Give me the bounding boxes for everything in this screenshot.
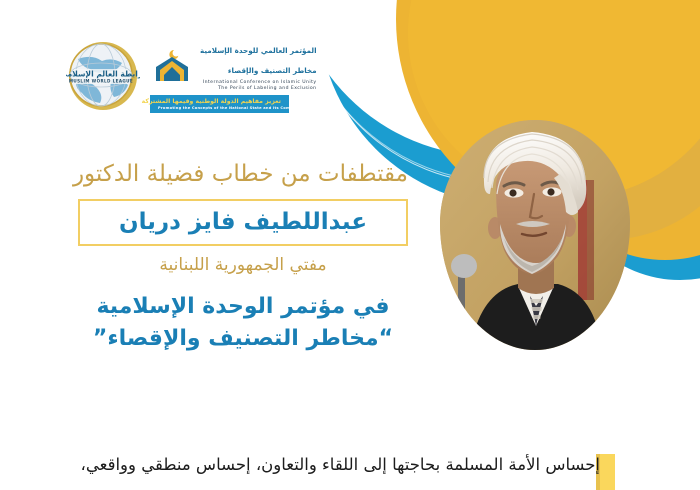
conference-arabic-line-1: المؤتمر العالمي للوحدة الإسلامية (200, 46, 317, 55)
conference-logo-words: المؤتمر العالمي للوحدة الإسلامية مخاطر ا… (200, 38, 317, 91)
portrait-artwork (440, 120, 630, 350)
header-logos: المؤتمر العالمي للوحدة الإسلامية مخاطر ا… (66, 38, 317, 113)
quote-text: إحساس الأمة المسلمة بحاجتها إلى اللقاء و… (60, 452, 600, 479)
svg-text:رابطة العالم الإسلامي: رابطة العالم الإسلامي (66, 69, 140, 78)
conference-tagline-english: Promoting the Concepts of the National S… (158, 106, 281, 110)
conference-tagline-banner: تعزيز مفاهيم الدولة الوطنية وقيمها المشت… (150, 95, 289, 113)
conference-arabic-line-2: مخاطر التصنيف والإقصاء (228, 66, 317, 75)
speaker-role: مفتي الجمهورية اللبنانية (78, 255, 408, 275)
kicker-text: مقتطفات من خطاب فضيلة الدكتور (78, 160, 408, 189)
conference-english-line-2: The Perils of Labeling and Exclusion (200, 86, 317, 92)
event-title: في مؤتمر الوحدة الإسلامية “مخاطر التصنيف… (78, 291, 408, 355)
event-title-line-2: “مخاطر التصنيف والإقصاء” (78, 323, 408, 355)
mosque-dome-crescent-icon (150, 45, 194, 85)
svg-text:MUSLIM WORLD LEAGUE: MUSLIM WORLD LEAGUE (69, 78, 133, 83)
conference-tagline-arabic: تعزيز مفاهيم الدولة الوطنية وقيمها المشت… (158, 98, 281, 105)
speaker-name: عبداللطيف فايز دريان (86, 209, 400, 235)
speaker-portrait (440, 120, 630, 350)
event-title-line-1: في مؤتمر الوحدة الإسلامية (96, 294, 389, 319)
muslim-world-league-logo: رابطة العالم الإسلامي MUSLIM WORLD LEAGU… (66, 39, 140, 113)
conference-english-line-1: International Conference on Islamic Unit… (200, 80, 317, 86)
main-text-block: مقتطفات من خطاب فضيلة الدكتور عبداللطيف … (78, 160, 408, 355)
poster-canvas: المؤتمر العالمي للوحدة الإسلامية مخاطر ا… (0, 0, 700, 490)
speaker-name-box: عبداللطيف فايز دريان (78, 199, 408, 246)
conference-logo-top: المؤتمر العالمي للوحدة الإسلامية مخاطر ا… (150, 38, 317, 91)
conference-logo: المؤتمر العالمي للوحدة الإسلامية مخاطر ا… (150, 38, 317, 113)
